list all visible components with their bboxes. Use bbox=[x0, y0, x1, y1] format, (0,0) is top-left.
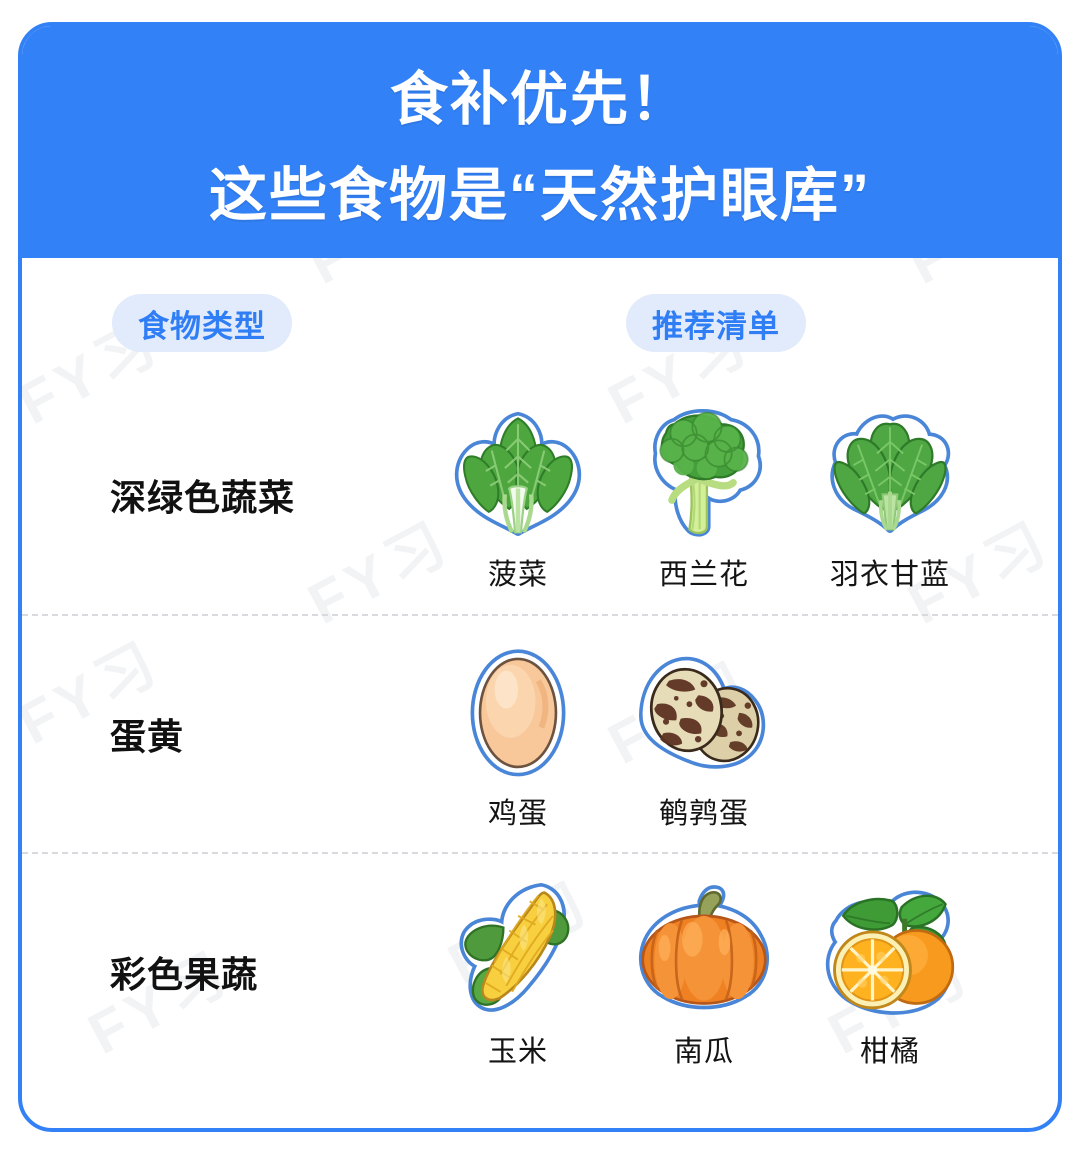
title-line-2: 这些食物是“天然护眼库” bbox=[209, 148, 871, 232]
food-item-label: 西兰花 bbox=[659, 551, 749, 593]
food-item[interactable]: 玉米 bbox=[428, 874, 608, 1070]
food-item[interactable]: 鸡蛋 bbox=[428, 636, 608, 832]
row-label: 彩色果蔬 bbox=[22, 946, 422, 998]
infographic-root: FY习 FY习 FY习 FY习 FY习 FY习 FY习 FY习 FY习 FY习 … bbox=[0, 0, 1080, 1153]
food-item-label: 鸡蛋 bbox=[488, 790, 548, 832]
row-items: 玉米 bbox=[422, 874, 1058, 1070]
table-body: 食物类型 推荐清单 深绿色蔬菜 bbox=[22, 258, 1058, 1128]
table-row: 彩色果蔬 bbox=[22, 852, 1058, 1090]
food-item[interactable]: 柑橘 bbox=[800, 874, 980, 1070]
corn-icon bbox=[444, 874, 592, 1022]
row-label: 蛋黄 bbox=[22, 708, 422, 760]
food-item-label: 柑橘 bbox=[860, 1028, 920, 1070]
food-item-label: 鹌鹑蛋 bbox=[659, 790, 749, 832]
food-item-label: 羽衣甘蓝 bbox=[830, 551, 950, 593]
food-item[interactable]: 南瓜 bbox=[614, 874, 794, 1070]
column-header-recommended-list: 推荐清单 bbox=[626, 294, 806, 352]
food-item-label: 南瓜 bbox=[674, 1028, 734, 1070]
pumpkin-icon bbox=[630, 874, 778, 1022]
food-item[interactable]: 羽衣甘蓝 bbox=[800, 397, 980, 593]
table-row: 深绿色蔬菜 bbox=[22, 376, 1058, 614]
quail-egg-icon bbox=[630, 636, 778, 784]
title-banner: 食补优先！ 这些食物是“天然护眼库” bbox=[22, 26, 1058, 258]
citrus-icon bbox=[816, 874, 964, 1022]
row-items: 鸡蛋 bbox=[422, 636, 1058, 832]
food-item[interactable]: 西兰花 bbox=[614, 397, 794, 593]
column-header-food-type: 食物类型 bbox=[112, 294, 292, 352]
table-row: 蛋黄 鸡蛋 bbox=[22, 614, 1058, 852]
food-item-label: 玉米 bbox=[488, 1028, 548, 1070]
food-item-label: 菠菜 bbox=[488, 551, 548, 593]
chicken-egg-icon bbox=[444, 636, 592, 784]
row-label: 深绿色蔬菜 bbox=[22, 469, 422, 521]
title-line-1: 食补优先！ bbox=[390, 52, 690, 136]
broccoli-icon bbox=[630, 397, 778, 545]
kale-icon bbox=[816, 397, 964, 545]
food-item[interactable]: 鹌鹑蛋 bbox=[614, 636, 794, 832]
column-headers: 食物类型 推荐清单 bbox=[22, 258, 1058, 376]
spinach-icon bbox=[444, 397, 592, 545]
food-recommendation-card: FY习 FY习 FY习 FY习 FY习 FY习 FY习 FY习 FY习 FY习 … bbox=[18, 22, 1062, 1132]
food-item[interactable]: 菠菜 bbox=[428, 397, 608, 593]
row-items: 菠菜 bbox=[422, 397, 1058, 593]
